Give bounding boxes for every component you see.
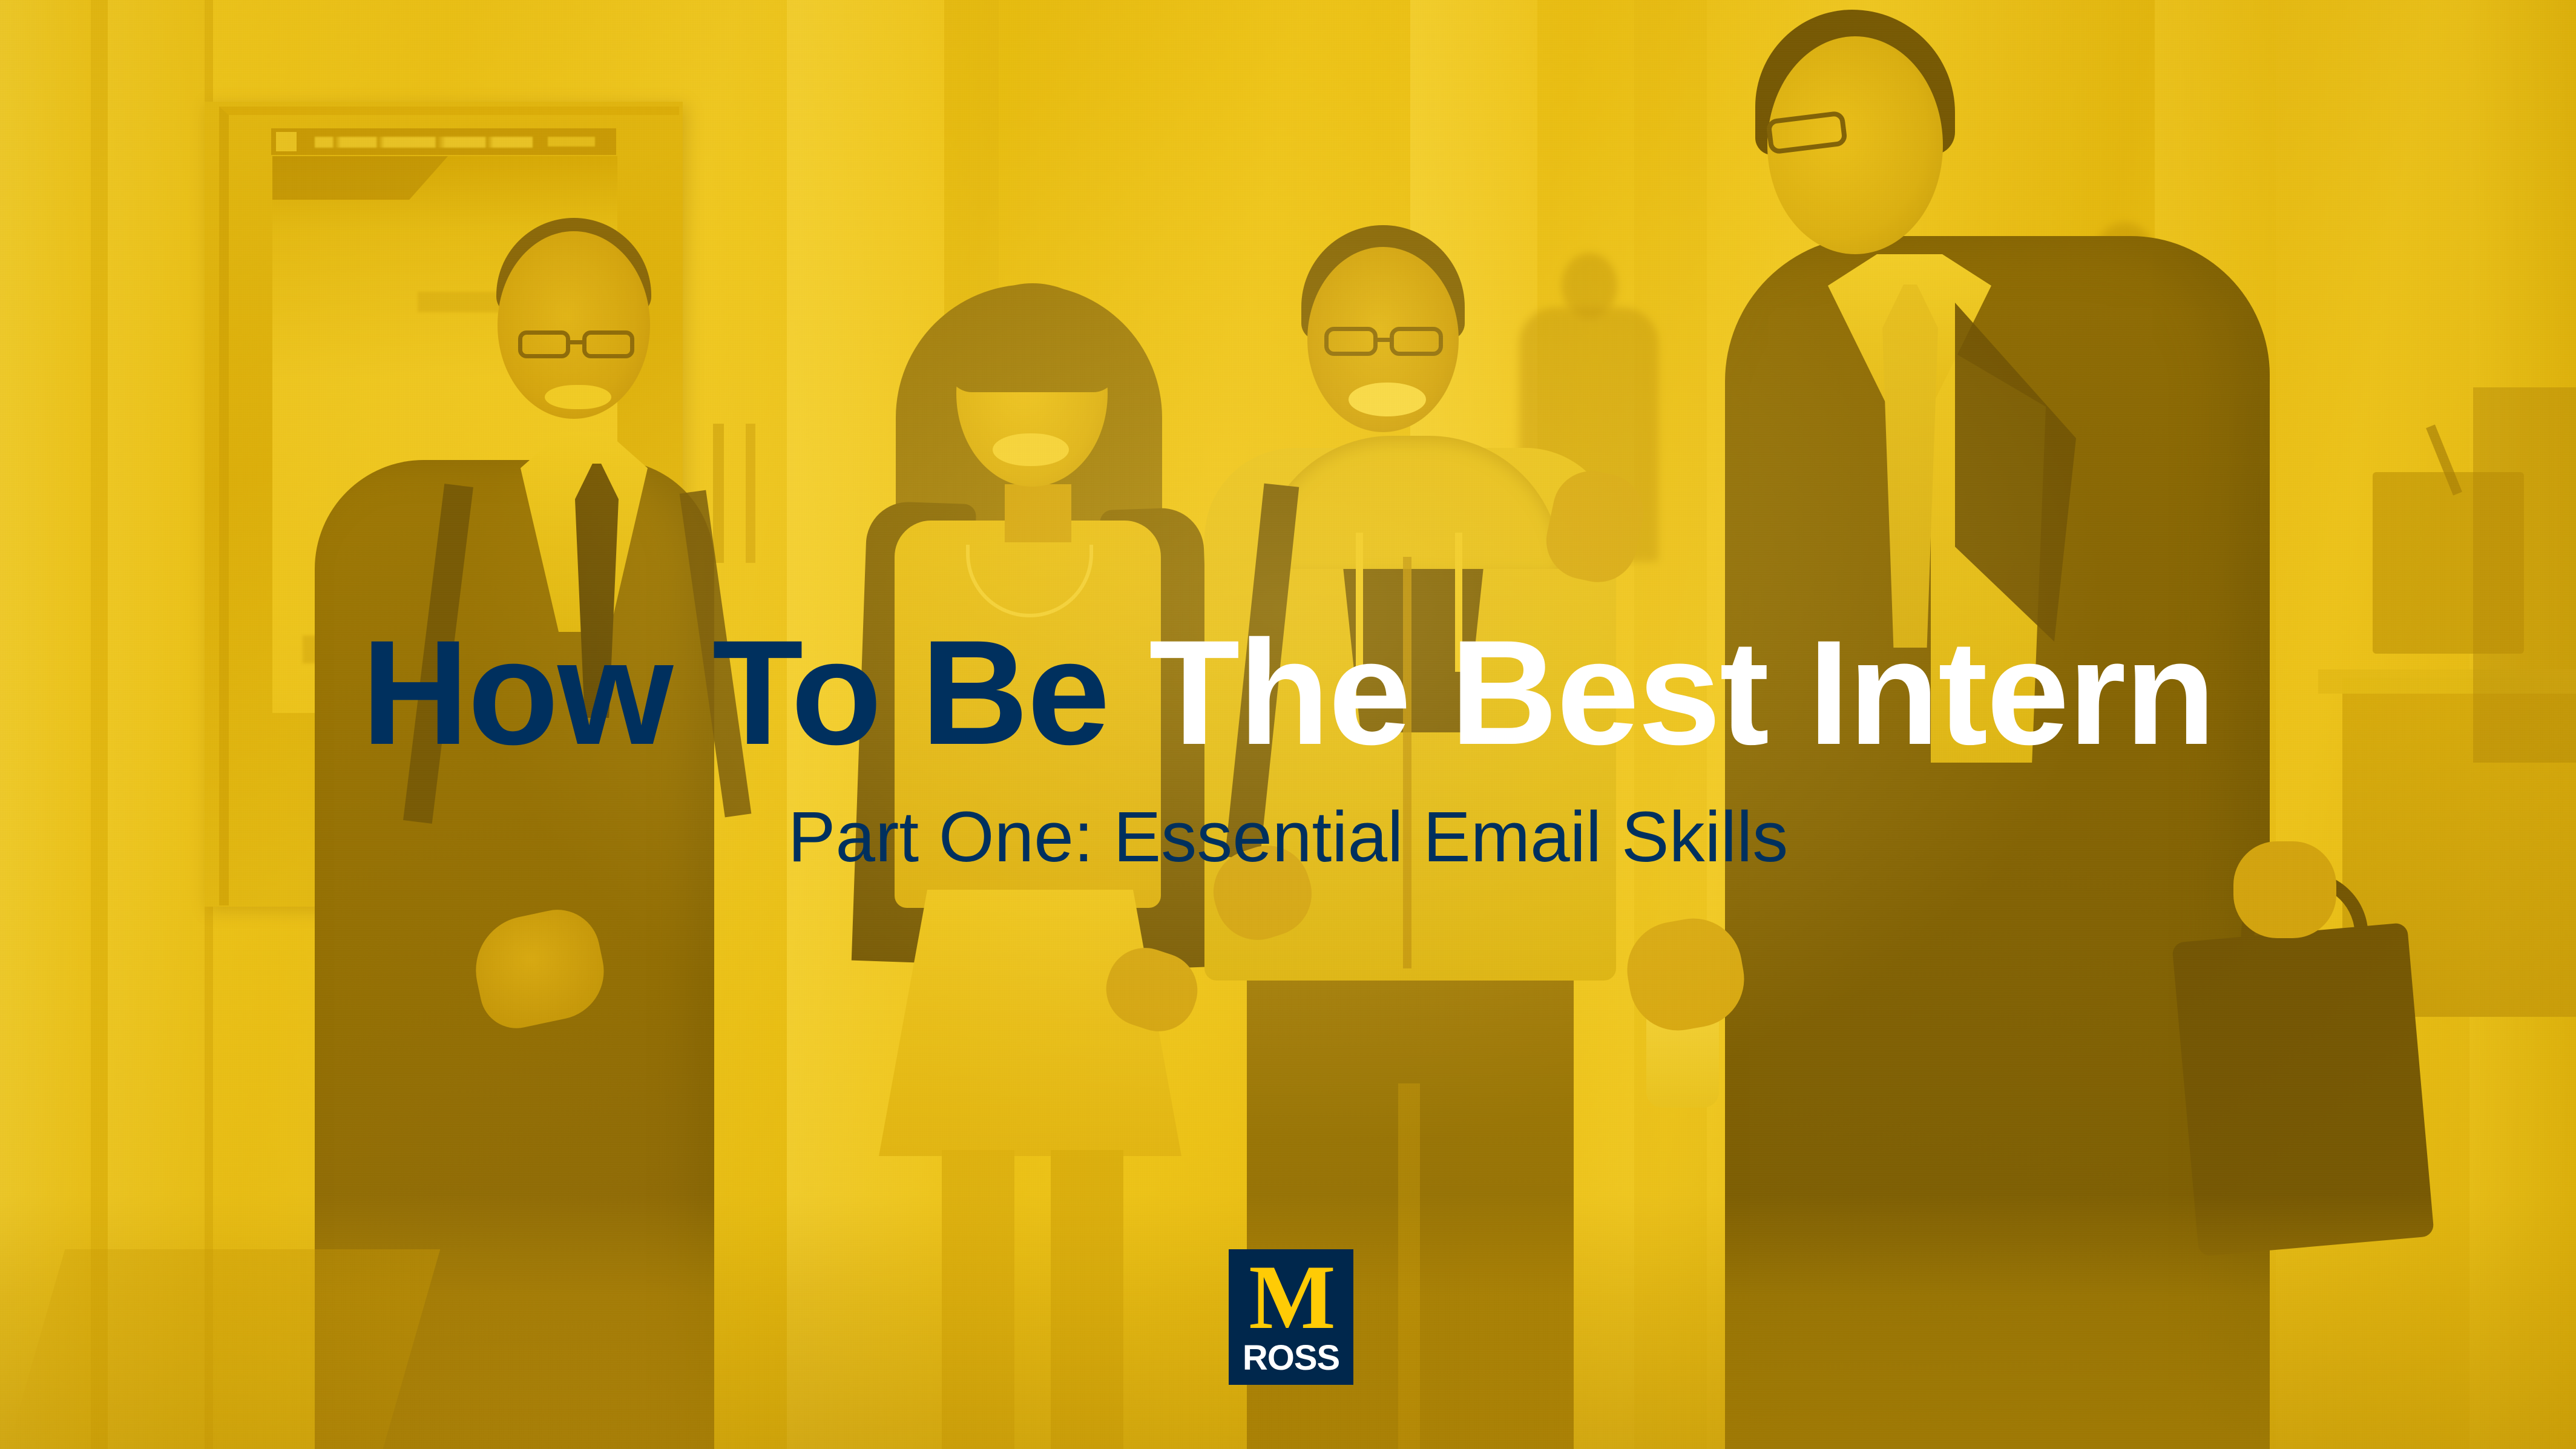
title-part-navy: How To Be <box>361 609 1149 776</box>
page-subtitle: Part One: Essential Email Skills <box>0 801 2576 873</box>
page-title: How To Be The Best Intern <box>0 619 2576 767</box>
text-overlay: How To Be The Best Intern Part One: Esse… <box>0 0 2576 1449</box>
title-part-white: The Best Intern <box>1149 609 2215 776</box>
ross-wordmark: ROSS <box>1229 1340 1353 1376</box>
title-slide: How To Be The Best Intern Part One: Esse… <box>0 0 2576 1449</box>
michigan-m-monogram: M <box>1229 1259 1353 1335</box>
ross-logo: M ROSS <box>1229 1249 1353 1385</box>
